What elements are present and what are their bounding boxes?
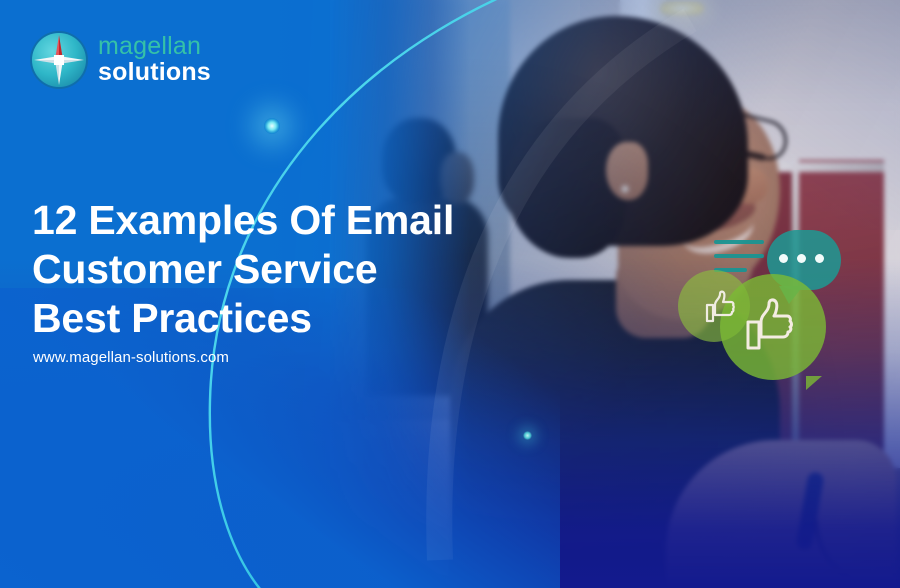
featured-image-banner: magellan solutions 12 Examples Of Email … [0, 0, 900, 588]
page-title: 12 Examples Of Email Customer Service Be… [32, 196, 592, 343]
glow-dot-icon [523, 431, 532, 440]
title-line-2: Customer Service [32, 245, 592, 294]
chat-bubble-dots [779, 254, 824, 263]
logo-word-solutions: solutions [98, 60, 211, 85]
magellan-solutions-logo[interactable]: magellan solutions [32, 33, 211, 87]
website-url[interactable]: www.magellan-solutions.com [33, 349, 229, 366]
title-line-1: 12 Examples Of Email [32, 196, 592, 245]
reaction-icon-cluster [672, 222, 832, 374]
logo-wordmark: magellan solutions [98, 34, 211, 87]
compass-rose-icon [32, 33, 86, 87]
logo-word-magellan: magellan [98, 34, 211, 59]
thumbs-up-icon [734, 290, 806, 362]
title-line-3: Best Practices [32, 294, 592, 343]
glow-dot-icon [264, 118, 280, 134]
